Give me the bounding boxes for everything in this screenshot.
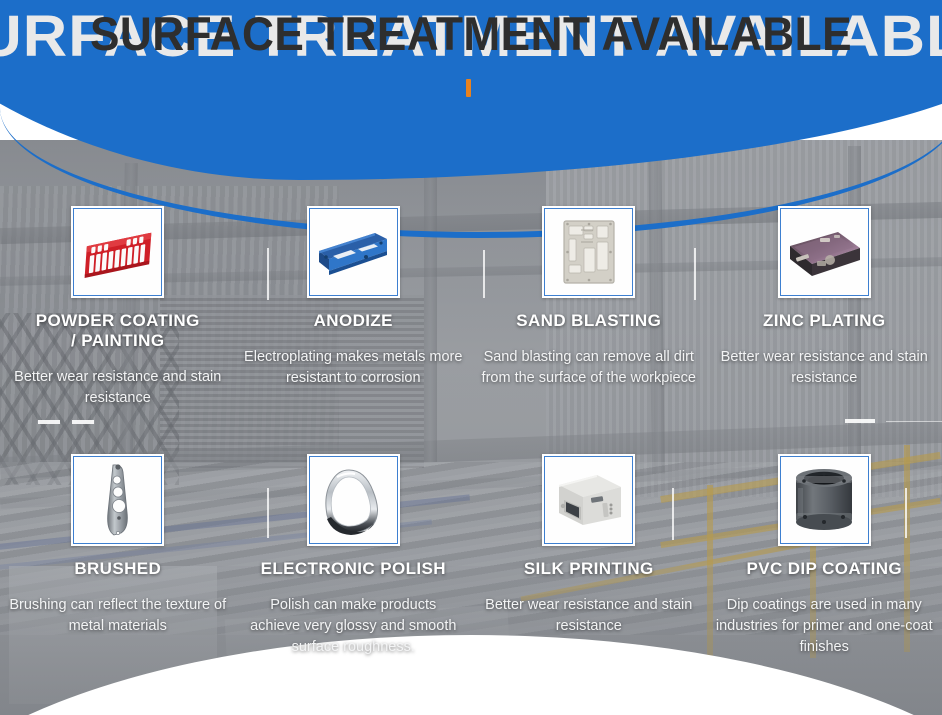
card-title-line1: POWDER COATING xyxy=(8,311,228,331)
blue-anodized-bracket-image xyxy=(307,206,400,298)
card-title: PVC DIP COATING xyxy=(715,559,935,579)
brushed-lever-part-image xyxy=(71,454,164,546)
card-pvc-dip-coating[interactable]: PVC DIP COATING Dip coatings are used in… xyxy=(707,428,942,678)
card-title-line1: BRUSHED xyxy=(8,559,228,579)
card-description: Better wear resistance and stain resista… xyxy=(8,367,228,409)
card-title-line1: ELECTRONIC POLISH xyxy=(244,559,464,579)
card-electronic-polish[interactable]: ELECTRONIC POLISH Polish can make produc… xyxy=(236,428,472,678)
card-title-line1: SILK PRINTING xyxy=(479,559,699,579)
card-silk-printing[interactable]: SILK PRINTING Better wear resistance and… xyxy=(471,428,707,678)
column-divider xyxy=(483,250,485,298)
dip-coated-flange-sleeve-image xyxy=(778,454,871,546)
card-title: BRUSHED xyxy=(8,559,228,579)
card-title-line2: / PAINTING xyxy=(8,331,228,351)
surface-treatment-poster: SURFACE TREATMENT AVAILABLE SURFACE TREA… xyxy=(0,0,942,715)
card-description: Dip coatings are used in many industries… xyxy=(715,595,935,658)
card-title-line1: ZINC PLATING xyxy=(715,311,935,331)
card-title: ANODIZE xyxy=(244,311,464,331)
card-powder-coating[interactable]: POWDER COATING / PAINTING Better wear re… xyxy=(0,180,236,425)
card-description: Electroplating makes metals more resista… xyxy=(244,347,464,389)
red-slotted-plate-image xyxy=(71,206,164,298)
card-anodize[interactable]: ANODIZE Electroplating makes metals more… xyxy=(236,180,472,425)
card-title-line1: ANODIZE xyxy=(244,311,464,331)
silk-printed-instrument-case-image xyxy=(542,454,635,546)
card-brushed[interactable]: BRUSHED Brushing can reflect the texture… xyxy=(0,428,236,678)
row-separator-line xyxy=(886,421,942,422)
card-title-line1: PVC DIP COATING xyxy=(715,559,935,579)
card-title: SAND BLASTING xyxy=(479,311,699,331)
column-divider xyxy=(694,248,696,300)
treatment-row-bottom: BRUSHED Brushing can reflect the texture… xyxy=(0,428,942,678)
card-sand-blasting[interactable]: SAND BLASTING Sand blasting can remove a… xyxy=(471,180,707,425)
treatment-grid: POWDER COATING / PAINTING Better wear re… xyxy=(0,180,942,690)
card-title: POWDER COATING / PAINTING xyxy=(8,311,228,351)
row-separator-dash xyxy=(38,420,60,424)
card-description: Sand blasting can remove all dirt from t… xyxy=(479,347,699,389)
row-separator-dash xyxy=(845,419,875,423)
column-divider xyxy=(267,248,269,300)
card-description: Better wear resistance and stain resista… xyxy=(479,595,699,637)
card-description: Better wear resistance and stain resista… xyxy=(715,347,935,389)
row-separator-dash xyxy=(72,420,94,424)
card-title-line1: SAND BLASTING xyxy=(479,311,699,331)
card-title: ZINC PLATING xyxy=(715,311,935,331)
card-description: Polish can make products achieve very gl… xyxy=(244,595,464,658)
card-title: ELECTRONIC POLISH xyxy=(244,559,464,579)
card-title: SILK PRINTING xyxy=(479,559,699,579)
zinc-plated-chassis-image xyxy=(778,206,871,298)
column-divider xyxy=(672,488,674,540)
machined-plate-image xyxy=(542,206,635,298)
card-zinc-plating[interactable]: ZINC PLATING Better wear resistance and … xyxy=(707,180,942,425)
card-description: Brushing can reflect the texture of meta… xyxy=(8,595,228,637)
treatment-row-top: POWDER COATING / PAINTING Better wear re… xyxy=(0,180,942,425)
polished-chrome-ring-image xyxy=(307,454,400,546)
column-divider xyxy=(267,488,269,538)
column-divider xyxy=(905,488,907,538)
